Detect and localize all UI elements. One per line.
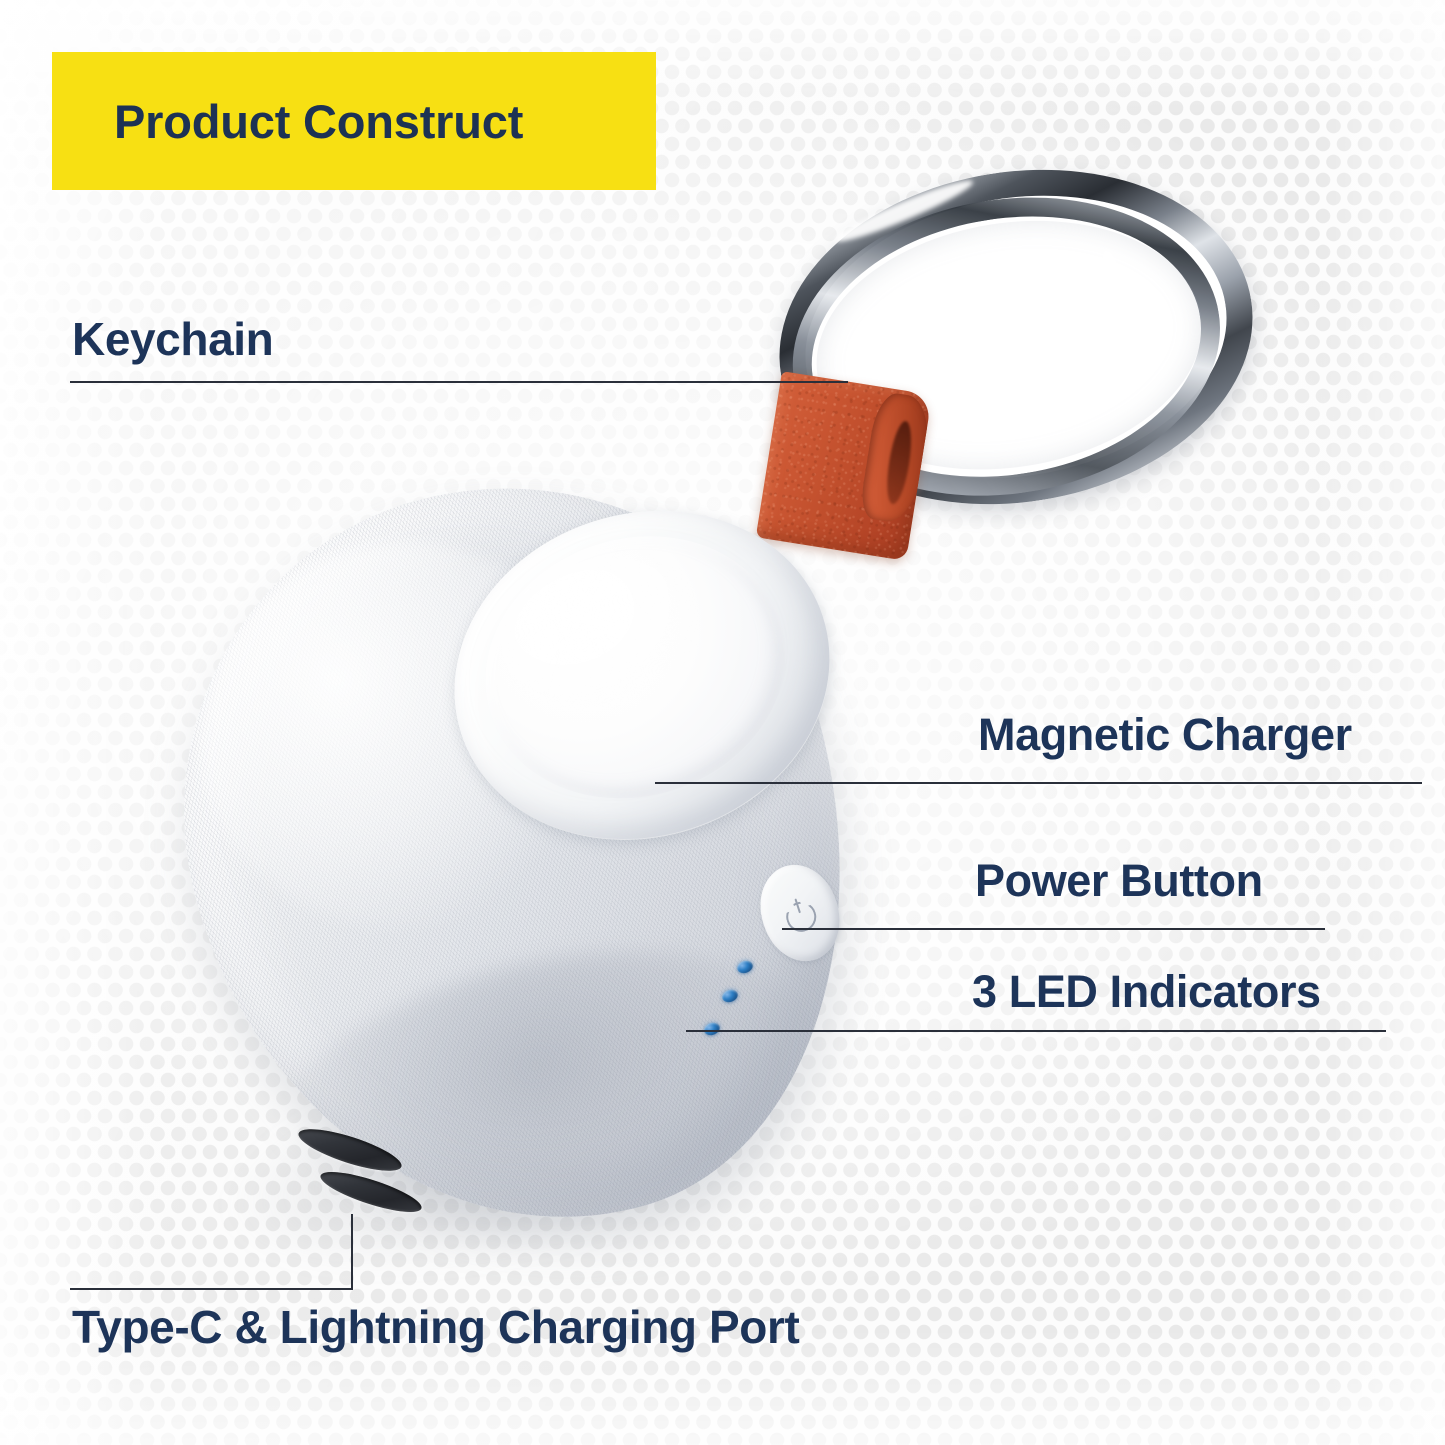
title-banner: Product Construct	[52, 52, 656, 190]
callout-label-magnetic-charger: Magnetic Charger	[978, 709, 1352, 761]
callout-label-power-button: Power Button	[975, 855, 1263, 907]
callout-label-led-indicators: 3 LED Indicators	[972, 966, 1321, 1018]
callout-label-keychain: Keychain	[72, 312, 273, 366]
callout-leader-charging-port-vertical	[351, 1214, 353, 1290]
callout-leader-led-indicators	[686, 1030, 1386, 1032]
callout-leader-charging-port-horizontal	[70, 1288, 353, 1290]
page-title: Product Construct	[114, 94, 523, 149]
callout-label-charging-port: Type-C & Lightning Charging Port	[72, 1300, 799, 1354]
callout-leader-power-button	[782, 928, 1325, 930]
callout-leader-keychain	[70, 381, 848, 383]
infographic-canvas: Product Construct Keychain Magnetic Char…	[0, 0, 1445, 1445]
callout-leader-magnetic-charger	[655, 782, 1422, 784]
